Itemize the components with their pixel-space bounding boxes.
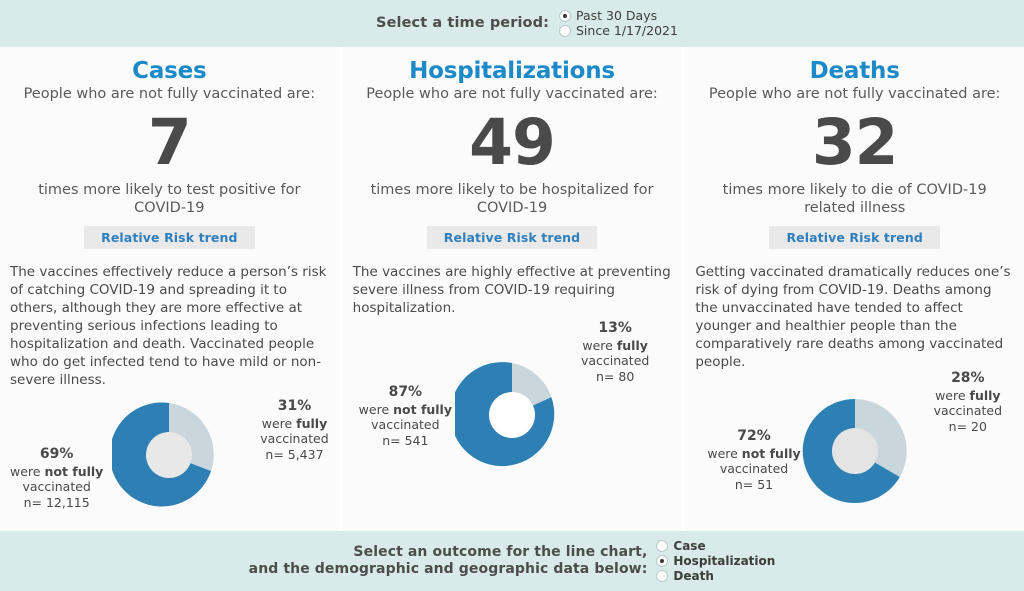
relative-risk-button-wrap: Relative Risk trend xyxy=(351,226,674,249)
donut-n-not-fully: n= 12,115 xyxy=(24,495,90,510)
donut-caption-fully-line1: were fully xyxy=(935,388,1001,403)
panel-subtitle: People who are not fully vaccinated are: xyxy=(351,86,674,103)
donut-callout-not-fully-vaccinated: 72% were not fully vaccinated n= 51 xyxy=(707,428,800,493)
panel-description: The vaccines are highly effective at pre… xyxy=(351,264,674,318)
donut-chart-area-deaths: 28% were fully vaccinated n= 20 72% were… xyxy=(693,376,1016,527)
donut-caption-not-fully-line1: were not fully xyxy=(359,402,452,417)
outcome-radio-group[interactable]: Case Hospitalization Death xyxy=(656,540,775,582)
outcome-option-hospitalization[interactable]: Hospitalization xyxy=(656,555,775,567)
relative-risk-trend-button[interactable]: Relative Risk trend xyxy=(769,226,939,249)
donut-caption-not-fully-line2: vaccinated xyxy=(720,461,788,476)
donut-caption-not-fully-line1: were not fully xyxy=(707,446,800,461)
donut-chart-deaths xyxy=(798,394,912,508)
outcome-selector-bar: Select an outcome for the line chart, an… xyxy=(0,531,1024,591)
panel-title: Deaths xyxy=(693,59,1016,84)
relative-risk-phrase: times more likely to be hospitalized for… xyxy=(351,182,674,217)
donut-caption-not-fully-line1: were not fully xyxy=(10,464,103,479)
time-period-selector-bar: Select a time period: Past 30 Days Since… xyxy=(0,0,1024,47)
panel-cases: Cases People who are not fully vaccinate… xyxy=(0,47,339,531)
outcome-option-label: Hospitalization xyxy=(673,555,775,567)
donut-caption-not-fully-line2: vaccinated xyxy=(371,417,439,432)
panel-description: Getting vaccinated dramatically reduces … xyxy=(693,264,1016,372)
relative-risk-number: 7 xyxy=(8,110,331,176)
panel-title: Hospitalizations xyxy=(351,59,674,84)
donut-pct-fully: 13% xyxy=(581,320,649,338)
time-period-label: Select a time period: xyxy=(376,14,549,32)
panel-hospitalizations: Hospitalizations People who are not full… xyxy=(341,47,682,531)
relative-risk-number: 32 xyxy=(693,110,1016,176)
relative-risk-phrase: times more likely to die of COVID-19 rel… xyxy=(693,182,1016,217)
donut-caption-fully-line2: vaccinated xyxy=(581,353,649,368)
donut-callout-not-fully-vaccinated: 87% were not fully vaccinated n= 541 xyxy=(359,384,452,449)
panel-subtitle: People who are not fully vaccinated are: xyxy=(693,86,1016,103)
panel-subtitle: People who are not fully vaccinated are: xyxy=(8,86,331,103)
panel-description: The vaccines effectively reduce a person… xyxy=(8,264,331,390)
donut-n-not-fully: n= 51 xyxy=(735,477,773,492)
radio-selected-icon[interactable] xyxy=(559,10,571,22)
relative-risk-button-wrap: Relative Risk trend xyxy=(8,226,331,249)
relative-risk-button-wrap: Relative Risk trend xyxy=(693,226,1016,249)
time-period-option-label: Past 30 Days xyxy=(576,10,657,23)
dashboard-root: Select a time period: Past 30 Days Since… xyxy=(0,0,1024,591)
donut-pct-fully: 31% xyxy=(260,398,328,416)
radio-selected-icon[interactable] xyxy=(656,555,668,567)
donut-caption-not-fully-line2: vaccinated xyxy=(22,479,90,494)
donut-chart-area-hospitalizations: 13% were fully vaccinated n= 80 87% were… xyxy=(351,322,674,527)
relative-risk-number: 49 xyxy=(351,110,674,176)
donut-caption-fully-line1: were fully xyxy=(262,416,328,431)
relative-risk-trend-button[interactable]: Relative Risk trend xyxy=(427,226,597,249)
metric-panels: Cases People who are not fully vaccinate… xyxy=(0,47,1024,531)
outcome-selector-label-line1: Select an outcome for the line chart, xyxy=(353,544,647,560)
outcome-option-case[interactable]: Case xyxy=(656,540,775,552)
radio-unselected-icon[interactable] xyxy=(656,570,668,582)
donut-pct-fully: 28% xyxy=(934,370,1002,388)
outcome-selector-label: Select an outcome for the line chart, an… xyxy=(249,544,648,579)
outcome-selector-label-line2: and the demographic and geographic data … xyxy=(249,561,648,577)
time-period-option-past-30-days[interactable]: Past 30 Days xyxy=(559,10,678,23)
donut-callout-not-fully-vaccinated: 69% were not fully vaccinated n= 12,115 xyxy=(10,446,103,511)
donut-callout-fully-vaccinated: 13% were fully vaccinated n= 80 xyxy=(581,320,649,385)
donut-chart-area-cases: 31% were fully vaccinated n= 5,437 69% w… xyxy=(8,394,331,527)
relative-risk-phrase: times more likely to test positive for C… xyxy=(8,182,331,217)
outcome-option-label: Death xyxy=(673,570,713,582)
donut-n-not-fully: n= 541 xyxy=(382,433,428,448)
donut-chart-cases xyxy=(112,398,226,512)
time-period-option-label: Since 1/17/2021 xyxy=(576,25,678,38)
time-period-option-since-date[interactable]: Since 1/17/2021 xyxy=(559,25,678,38)
donut-pct-not-fully: 87% xyxy=(359,384,452,402)
panel-deaths: Deaths People who are not fully vaccinat… xyxy=(683,47,1024,531)
outcome-option-death[interactable]: Death xyxy=(656,570,775,582)
donut-callout-fully-vaccinated: 28% were fully vaccinated n= 20 xyxy=(934,370,1002,435)
donut-n-fully: n= 5,437 xyxy=(265,447,323,462)
donut-chart-hospitalizations xyxy=(455,358,569,472)
outcome-option-label: Case xyxy=(673,540,705,552)
donut-caption-fully-line2: vaccinated xyxy=(260,431,328,446)
radio-unselected-icon[interactable] xyxy=(559,25,571,37)
donut-caption-fully-line1: were fully xyxy=(582,338,648,353)
time-period-radio-group[interactable]: Past 30 Days Since 1/17/2021 xyxy=(559,10,678,37)
radio-unselected-icon[interactable] xyxy=(656,540,668,552)
donut-n-fully: n= 80 xyxy=(596,369,634,384)
panel-title: Cases xyxy=(8,59,331,84)
donut-n-fully: n= 20 xyxy=(949,419,987,434)
donut-pct-not-fully: 69% xyxy=(10,446,103,464)
relative-risk-trend-button[interactable]: Relative Risk trend xyxy=(84,226,254,249)
donut-pct-not-fully: 72% xyxy=(707,428,800,446)
donut-callout-fully-vaccinated: 31% were fully vaccinated n= 5,437 xyxy=(260,398,328,463)
donut-caption-fully-line2: vaccinated xyxy=(934,403,1002,418)
